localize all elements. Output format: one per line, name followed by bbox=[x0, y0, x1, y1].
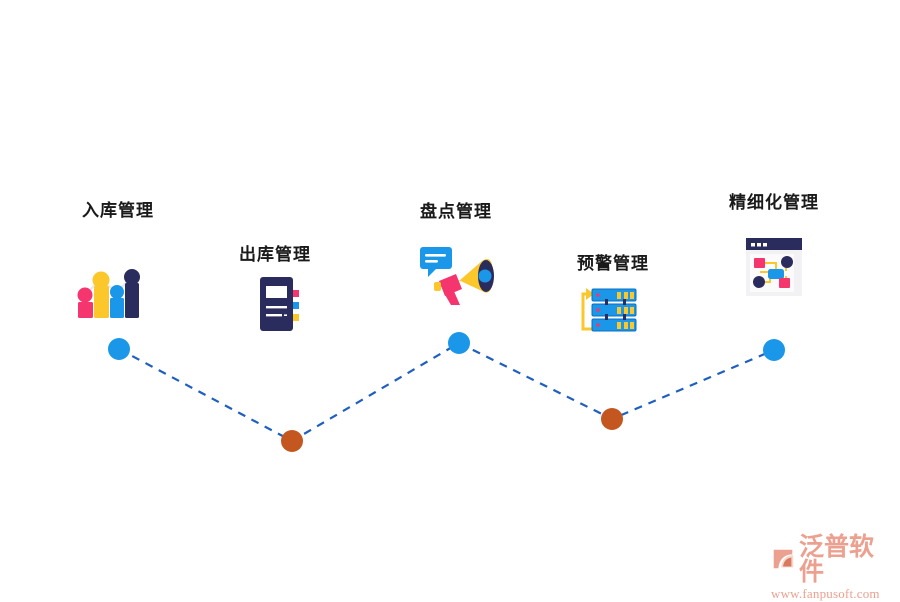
step-label-inbound: 入库管理 bbox=[82, 196, 154, 221]
diagram-canvas: 入库管理 出库管理 盘点管理 预警管理 精细化管理 bbox=[0, 0, 900, 600]
flowchart-window-icon bbox=[746, 238, 802, 301]
milestone-dot-outbound[interactable] bbox=[281, 430, 303, 452]
step-label-alert: 预警管理 bbox=[577, 249, 649, 274]
step-label-refined: 精细化管理 bbox=[729, 188, 819, 213]
watermark: 泛普软件 www.fanpusoft.com bbox=[770, 534, 892, 592]
step-label-stocktake: 盘点管理 bbox=[420, 197, 492, 222]
milestone-dot-refined[interactable] bbox=[763, 339, 785, 361]
milestone-dot-stocktake[interactable] bbox=[448, 332, 470, 354]
bar-chart-icon bbox=[76, 262, 140, 323]
megaphone-icon bbox=[419, 244, 497, 311]
server-rack-icon bbox=[579, 286, 639, 341]
watermark-brand: 泛普软件 bbox=[799, 534, 892, 584]
milestone-dot-alert[interactable] bbox=[601, 408, 623, 430]
ledger-book-icon bbox=[259, 276, 301, 337]
step-label-outbound: 出库管理 bbox=[239, 240, 311, 265]
milestone-dot-inbound[interactable] bbox=[108, 338, 130, 360]
fanpu-logo-icon bbox=[770, 546, 796, 572]
